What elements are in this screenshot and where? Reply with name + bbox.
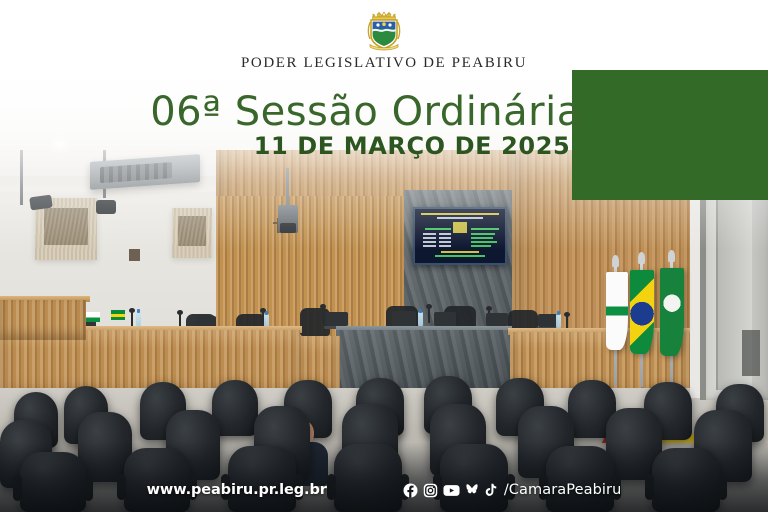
peabiru-coat-of-arms <box>361 8 407 52</box>
youtube-icon[interactable] <box>443 483 460 498</box>
audience-chair <box>228 446 296 512</box>
lectern <box>0 300 86 340</box>
session-title: 06ª Sessão Ordinária <box>0 92 732 132</box>
laptop <box>326 312 348 326</box>
laptop <box>538 314 558 327</box>
session-date: 11 DE MARÇO DE 2025 <box>254 132 571 160</box>
flag-municipal <box>660 268 684 356</box>
water-bottle <box>136 312 141 327</box>
projector-pole <box>286 168 289 208</box>
session-banner: PODER LEGISLATIVO DE PEABIRU 06ª Sessão … <box>0 0 768 512</box>
water-bottle <box>418 312 423 327</box>
wall-hanging <box>172 208 212 258</box>
website-url[interactable]: www.peabiru.pr.leg.br <box>147 482 327 498</box>
bluesky-icon[interactable] <box>465 483 479 497</box>
voting-board <box>413 207 507 265</box>
flag-parana <box>606 272 628 350</box>
laptop <box>392 311 416 326</box>
banner-header: PODER LEGISLATIVO DE PEABIRU <box>0 0 768 72</box>
audience-chair <box>440 444 508 512</box>
microphone <box>428 308 430 323</box>
facebook-icon[interactable] <box>403 483 418 498</box>
tiktok-icon[interactable] <box>484 483 497 497</box>
wall-plaque <box>129 249 140 261</box>
banner-footer: www.peabiru.pr.leg.br /Camara <box>0 482 768 498</box>
flag-brazil <box>630 270 654 354</box>
desk-flag <box>111 310 125 320</box>
water-bottle <box>556 314 561 329</box>
camera <box>96 200 116 214</box>
door-shadow <box>742 330 760 376</box>
audience-chair <box>652 448 720 512</box>
institution-title: PODER LEGISLATIVO DE PEABIRU <box>0 55 768 72</box>
session-title-block: 06ª Sessão Ordinária 11 DE MARÇO DE 2025 <box>0 92 768 160</box>
audience-chair <box>546 446 614 512</box>
projector <box>278 205 298 233</box>
instagram-icon[interactable] <box>423 483 438 498</box>
audience-chair <box>334 444 402 512</box>
laptop <box>486 313 508 326</box>
session-title-text: 06ª Sessão Ordinária <box>150 89 582 135</box>
audience-chair <box>124 448 190 512</box>
microphone <box>322 308 324 324</box>
desk-flag <box>86 312 100 322</box>
laptop <box>434 312 456 326</box>
session-date-row: 11 DE MARÇO DE 2025 <box>0 132 732 160</box>
social-links: /CamaraPeabiru <box>403 482 622 498</box>
social-handle[interactable]: /CamaraPeabiru <box>504 482 622 498</box>
